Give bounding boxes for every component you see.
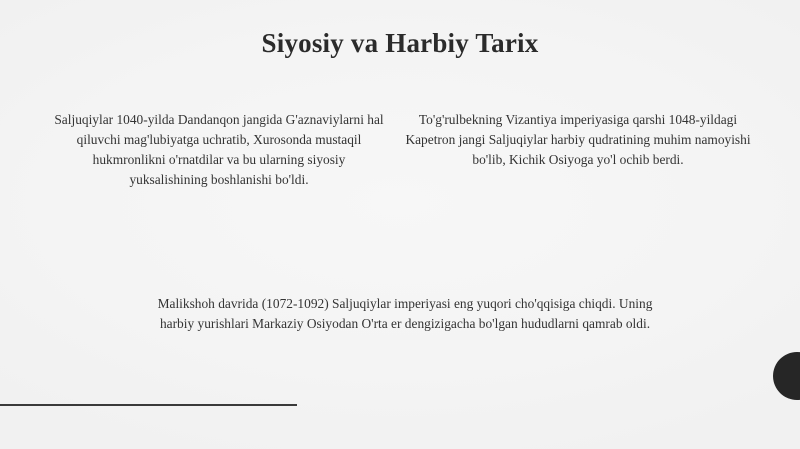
body-text-column-left: Saljuqiylar 1040-yilda Dandanqon jangida… [52,110,386,190]
body-text-column-right: To'g'rulbekning Vizantiya imperiyasiga q… [404,110,752,170]
page-title: Siyosiy va Harbiy Tarix [0,26,800,60]
presentation-slide: Siyosiy va Harbiy Tarix Saljuqiylar 1040… [0,0,800,449]
body-text-bottom: Malikshoh davrida (1072-1092) Saljuqiyla… [150,294,660,334]
circle-accent-decoration [773,352,800,400]
horizontal-rule-decoration [0,404,297,406]
